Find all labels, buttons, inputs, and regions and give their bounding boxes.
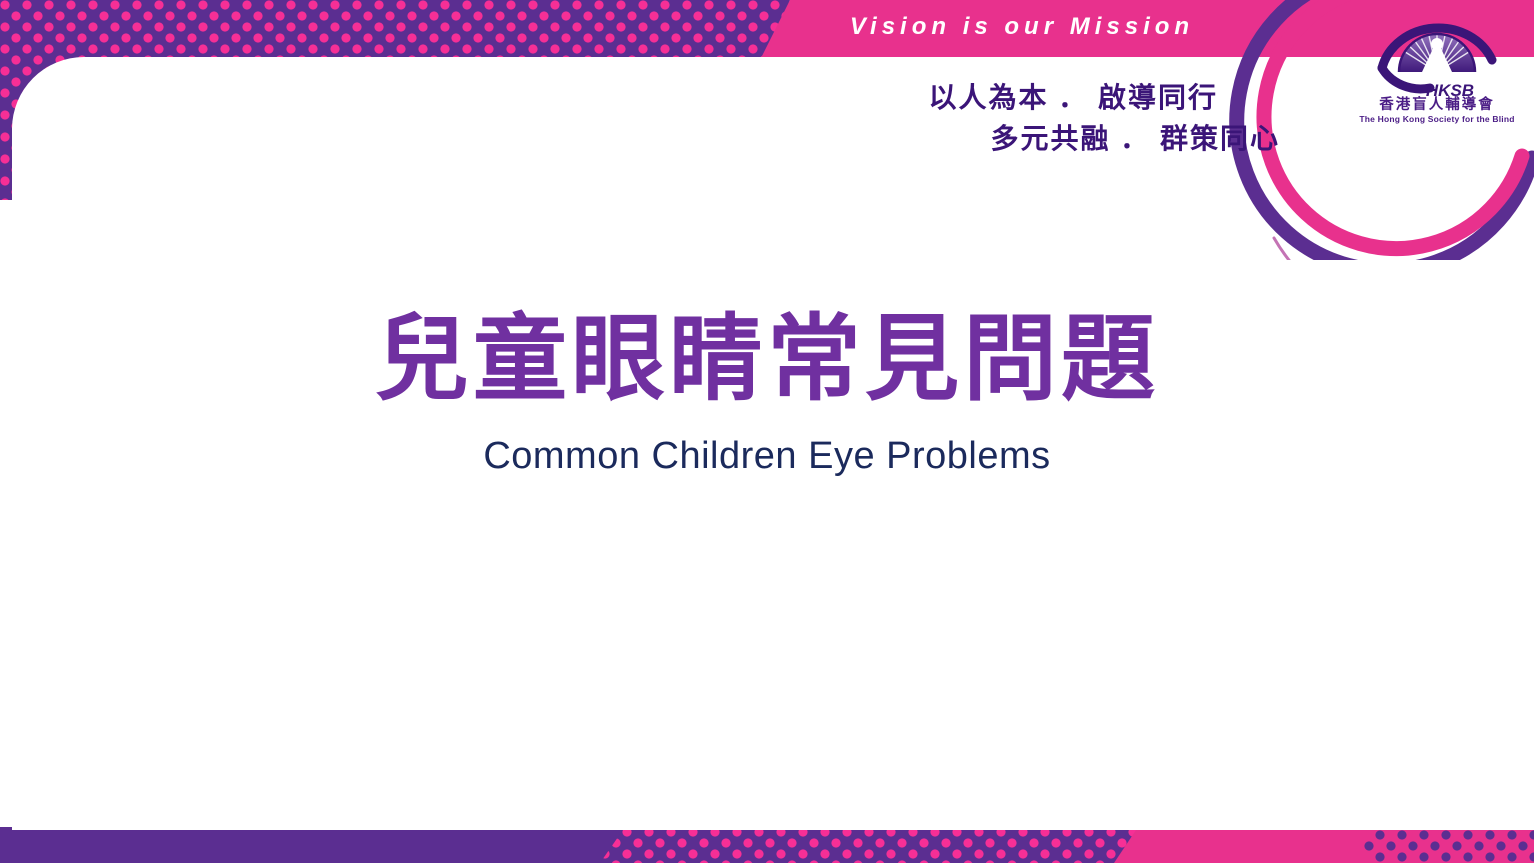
mission-banner-text: Vision is our Mission	[812, 13, 1232, 41]
logo-chinese-name: 香港盲人輔導會	[1352, 98, 1522, 114]
page-title-chinese: 兒童眼睛常見問題	[0, 306, 1534, 411]
hksb-logo: HKSB 香港盲人輔導會 The Hong Kong Society for t…	[1352, 10, 1522, 124]
eye-with-sunburst-icon: HKSB	[1372, 10, 1502, 102]
slide-canvas: Vision is our Mission 以人為本 ． 啟導同行 多元共融 ．…	[0, 0, 1534, 863]
page-subtitle-english: Common Children Eye Problems	[0, 435, 1534, 478]
chinese-slogan-line-2: 多元共融 ． 群策同心	[860, 119, 1280, 160]
white-card-bottom-right-curve-2	[1204, 770, 1534, 830]
logo-english-name: The Hong Kong Society for the Blind	[1352, 115, 1522, 124]
white-card-bottom-right-curve	[1206, 670, 1406, 830]
bottom-right-pink-band	[1114, 827, 1534, 863]
chinese-slogan-line-1: 以人為本 ． 啟導同行	[860, 78, 1280, 119]
top-left-purple-dotted-band	[0, 0, 790, 60]
chinese-slogan: 以人為本 ． 啟導同行 多元共融 ． 群策同心	[860, 78, 1280, 159]
title-block: 兒童眼睛常見問題 Common Children Eye Problems	[0, 306, 1534, 478]
bottom-right-polka-dot-field	[1364, 753, 1534, 863]
top-left-polka-dot-field	[0, 0, 260, 200]
bottom-middle-dotted-band	[600, 827, 1160, 863]
bottom-left-purple-band	[0, 827, 700, 863]
